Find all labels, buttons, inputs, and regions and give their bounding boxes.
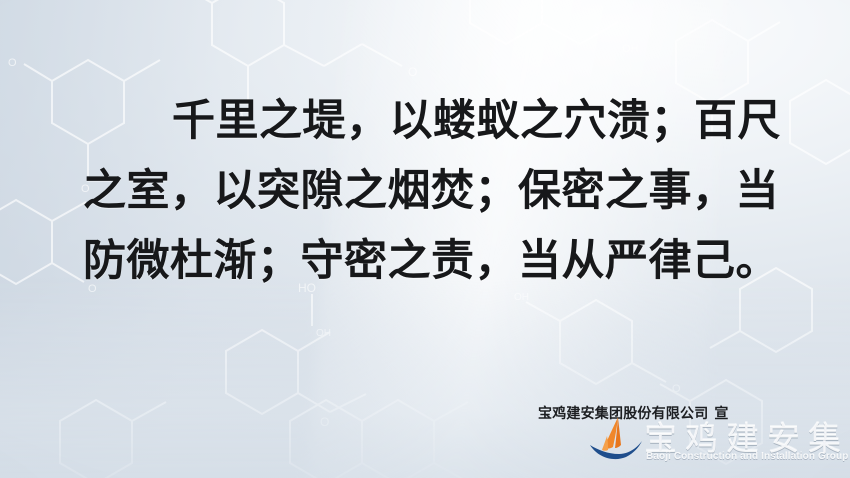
quote-line-1: 千里之堤，以蝼蚁之穴溃；百尺	[0, 86, 850, 156]
slide-quote-text: 千里之堤，以蝼蚁之穴溃；百尺 之室，以突隙之烟焚；保密之事，当 防微杜渐；守密之…	[0, 86, 850, 296]
logo-english-name: Baoji Construction and Installation Grou…	[646, 451, 850, 462]
quote-line-3: 防微杜渐；守密之责，当从严律己。	[0, 226, 850, 296]
slide-footer: 宝鸡建安集团股份有限公司宣 宝鸡建安集团 Baoji Construction …	[0, 388, 850, 478]
presentation-slide: O O O HO	[0, 0, 850, 478]
quote-line-2: 之室，以突隙之烟焚；保密之事，当	[0, 156, 850, 226]
company-logo-watermark: 宝鸡建安集团 Baoji Construction and Installati…	[588, 410, 850, 472]
logo-mark-icon	[588, 416, 644, 462]
